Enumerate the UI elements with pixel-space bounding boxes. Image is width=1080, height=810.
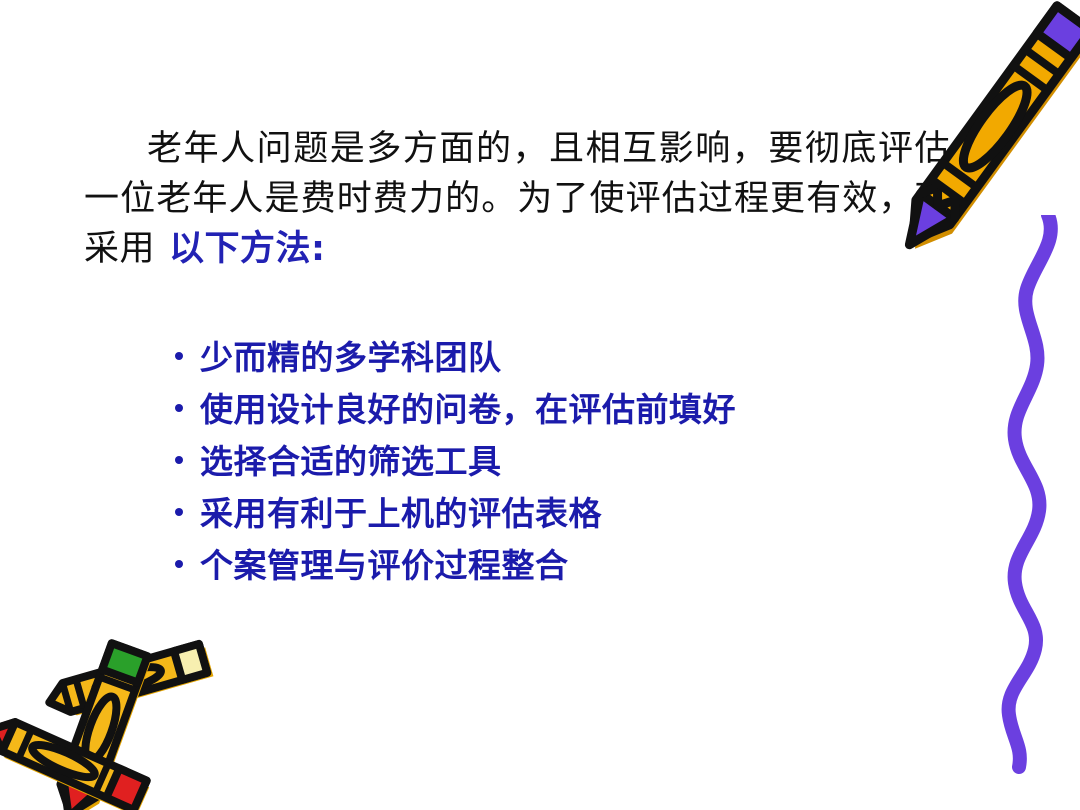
list-item[interactable]: 采用有利于上机的评估表格 bbox=[170, 488, 930, 540]
green-crayon bbox=[51, 643, 153, 810]
bullet-dot-icon bbox=[170, 333, 200, 385]
three-crossed-crayons-icon bbox=[0, 618, 244, 810]
cream-crayon bbox=[45, 643, 213, 722]
list-item-label: 采用有利于上机的评估表格 bbox=[200, 488, 602, 540]
bullet-dot-icon bbox=[170, 541, 200, 593]
list-item[interactable]: 选择合适的筛选工具 bbox=[170, 436, 930, 488]
list-item[interactable]: 个案管理与评价过程整合 bbox=[170, 540, 930, 592]
bullet-dot-icon bbox=[170, 437, 200, 489]
list-item-label: 少而精的多学科团队 bbox=[200, 332, 502, 384]
red-crayon bbox=[0, 715, 151, 810]
slide-canvas: 老年人问题是多方面的，且相互影响，要彻底评估一位老年人是费时费力的。为了使评估过… bbox=[0, 0, 1080, 810]
list-item-label: 使用设计良好的问卷，在评估前填好 bbox=[200, 384, 736, 436]
intro-paragraph: 老年人问题是多方面的，且相互影响，要彻底评估一位老年人是费时费力的。为了使评估过… bbox=[84, 124, 950, 274]
paragraph-highlight-text: 以下方法: bbox=[169, 229, 326, 269]
list-item-label: 个案管理与评价过程整合 bbox=[200, 540, 569, 592]
bullet-dot-icon bbox=[170, 385, 200, 437]
bullet-dot-icon bbox=[170, 489, 200, 541]
list-item[interactable]: 少而精的多学科团队 bbox=[170, 332, 930, 384]
list-item-label: 选择合适的筛选工具 bbox=[200, 436, 502, 488]
purple-wavy-crayon-stroke-icon bbox=[975, 215, 1080, 775]
list-item[interactable]: 使用设计良好的问卷，在评估前填好 bbox=[170, 384, 930, 436]
bullet-list: 少而精的多学科团队 使用设计良好的问卷，在评估前填好 选择合适的筛选工具 采用有… bbox=[170, 332, 930, 592]
